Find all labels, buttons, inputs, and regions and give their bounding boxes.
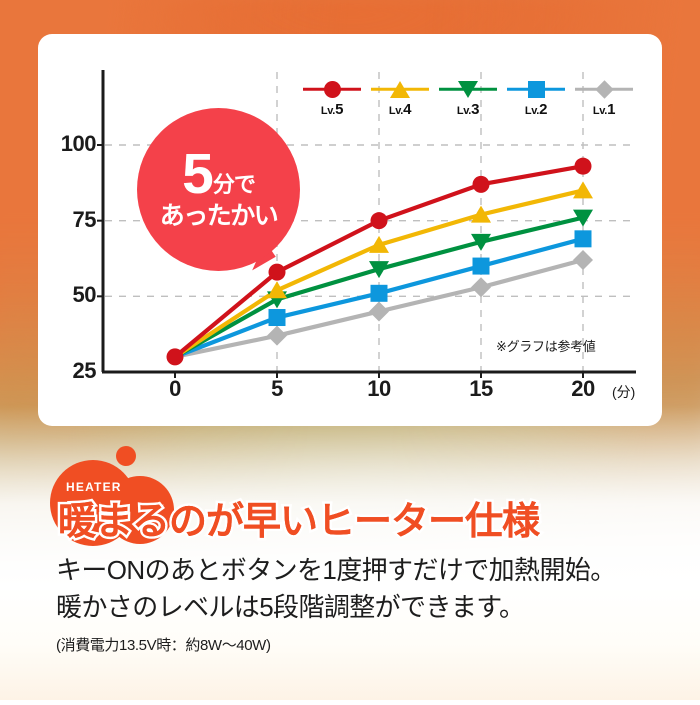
legend-marker: [301, 78, 363, 100]
y-axis-tick-100: 100: [46, 131, 96, 157]
triangle-down-icon: [458, 81, 478, 98]
x-axis-unit-label: (分): [612, 382, 635, 402]
legend-label: Lv.3: [457, 101, 479, 118]
description-line-2: 暖かさのレベルは5段階調整ができます。: [56, 589, 656, 626]
x-axis-tick-20: 20: [571, 376, 594, 402]
legend-label: Lv.5: [321, 101, 343, 118]
legend-marker: [573, 78, 635, 100]
legend-item-lv5[interactable]: Lv.5: [300, 78, 364, 118]
heater-badge: HEATER 暖まるのが早いヒーター仕様 暖まるのが早いヒーター仕様: [44, 446, 604, 518]
diamond-icon: [595, 80, 613, 98]
badge-title: 暖まるのが早いヒーター仕様: [58, 490, 539, 545]
circle-icon: [324, 81, 341, 98]
x-axis-tick-10: 10: [367, 376, 390, 402]
description-line-1: キーONのあとボタンを1度押すだけで加熱開始。: [56, 552, 656, 589]
legend-label: Lv.1: [593, 101, 615, 118]
legend-marker: [437, 78, 499, 100]
legend-item-lv1[interactable]: Lv.1: [572, 78, 636, 118]
x-axis-tick-5: 5: [271, 376, 283, 402]
speech-bubble-line2: あったかい: [160, 204, 278, 229]
description-block: キーONのあとボタンを1度押すだけで加熱開始。 暖かさのレベルは5段階調整ができ…: [56, 552, 656, 655]
legend-item-lv2[interactable]: Lv.2: [504, 78, 568, 118]
legend-marker: [505, 78, 567, 100]
speech-bubble-number: 5: [182, 150, 212, 199]
legend-label: Lv.4: [389, 101, 411, 118]
x-axis-tick-0: 0: [169, 376, 181, 402]
y-axis-tick-label: 25: [73, 358, 96, 383]
y-axis-tick-label: 75: [73, 207, 96, 232]
speech-bubble: 5 分で あったかい: [137, 108, 300, 271]
y-axis-tick-label: 100: [61, 131, 96, 156]
legend-marker: [369, 78, 431, 100]
triangle-up-icon: [390, 81, 410, 98]
y-axis-tick-75: 75: [46, 207, 96, 233]
badge-blob-dot: [116, 446, 136, 466]
y-axis-tick-label: 50: [73, 282, 96, 307]
legend-item-lv3[interactable]: Lv.3: [436, 78, 500, 118]
speech-bubble-line1: 5 分で: [182, 150, 255, 199]
chart-annotation: ※グラフは参考値: [496, 336, 596, 355]
x-axis-tick-15: 15: [469, 376, 492, 402]
chart-legend: Lv.5Lv.4Lv.3Lv.2Lv.1: [300, 78, 636, 136]
y-axis-tick-25: 25: [46, 358, 96, 384]
square-icon: [528, 81, 545, 98]
legend-label: Lv.2: [525, 101, 547, 118]
y-axis-tick-50: 50: [46, 282, 96, 308]
speech-bubble-suffix: 分で: [213, 174, 255, 200]
description-note: (消費電力13.5V時：約8W〜40W): [56, 634, 656, 655]
legend-item-lv4[interactable]: Lv.4: [368, 78, 432, 118]
